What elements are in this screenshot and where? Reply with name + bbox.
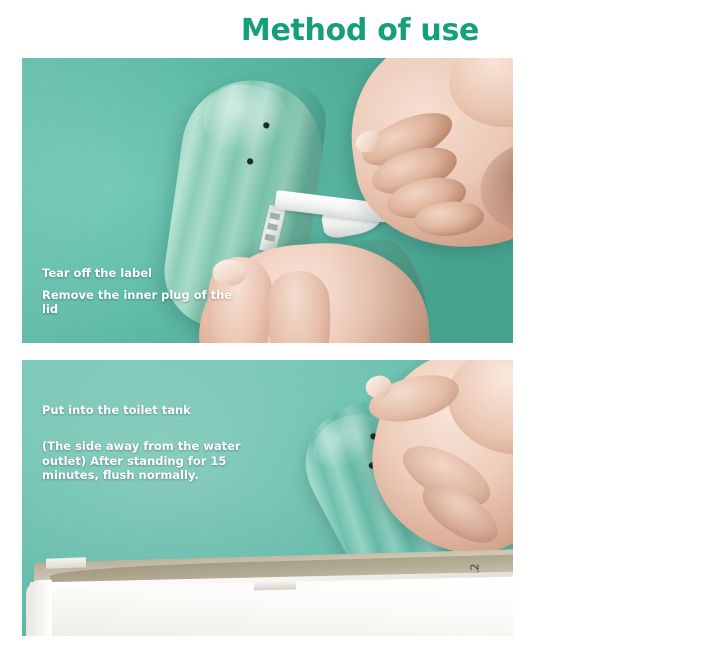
toilet-tank: 12 <box>22 556 513 636</box>
bottle-highlight <box>198 79 294 160</box>
toilet-tank-clip-left <box>46 557 86 568</box>
step-1-caption-secondary: Remove the inner plug of the lid <box>42 288 242 316</box>
toilet-tank-clip-center <box>254 581 296 590</box>
label-mark-3 <box>264 234 275 242</box>
instruction-image-step-2: 12 <box>22 360 513 636</box>
step-2-caption-primary: Put into the toilet tank <box>42 403 191 418</box>
right-hand-knuckles <box>442 58 513 135</box>
left-hand-finger-2 <box>267 270 333 343</box>
step-2-scene: 12 <box>22 360 513 636</box>
page-title: Method of use <box>0 12 720 50</box>
step-1-caption-primary: Tear off the label <box>42 266 152 281</box>
left-hand-shading <box>331 236 433 343</box>
step-2-caption-secondary: (The side away from the water outlet) Af… <box>42 439 272 483</box>
hand-knuckles <box>438 360 513 466</box>
label-mark-2 <box>267 223 278 231</box>
lid-hole-lower <box>247 158 254 165</box>
label-mark-1 <box>269 212 280 220</box>
toilet-tank-corner-left <box>26 580 52 636</box>
